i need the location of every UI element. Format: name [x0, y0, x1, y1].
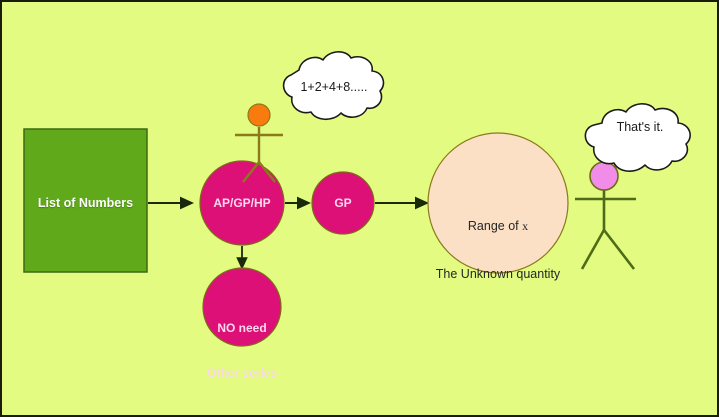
- stick-figure-right-leg-left: [582, 230, 604, 269]
- diagram-canvas: List of Numbers AP/GP/HP GP NO need Othe…: [0, 0, 719, 417]
- node-gp[interactable]: [312, 172, 374, 234]
- stick-figure-right-head: [590, 162, 618, 190]
- thought-bubble-series: [284, 52, 384, 119]
- thinking-person-right: [575, 162, 636, 269]
- thought-bubble-thats-it: [585, 104, 690, 171]
- node-range-of-x[interactable]: [428, 133, 568, 273]
- stick-figure-right-leg-right: [604, 230, 634, 269]
- node-no-need-other-series[interactable]: [203, 268, 281, 346]
- node-ap-gp-hp[interactable]: [200, 161, 284, 245]
- node-list-of-numbers[interactable]: [24, 129, 147, 272]
- stick-figure-left-head: [248, 104, 270, 126]
- diagram-vector-layer: [2, 2, 719, 417]
